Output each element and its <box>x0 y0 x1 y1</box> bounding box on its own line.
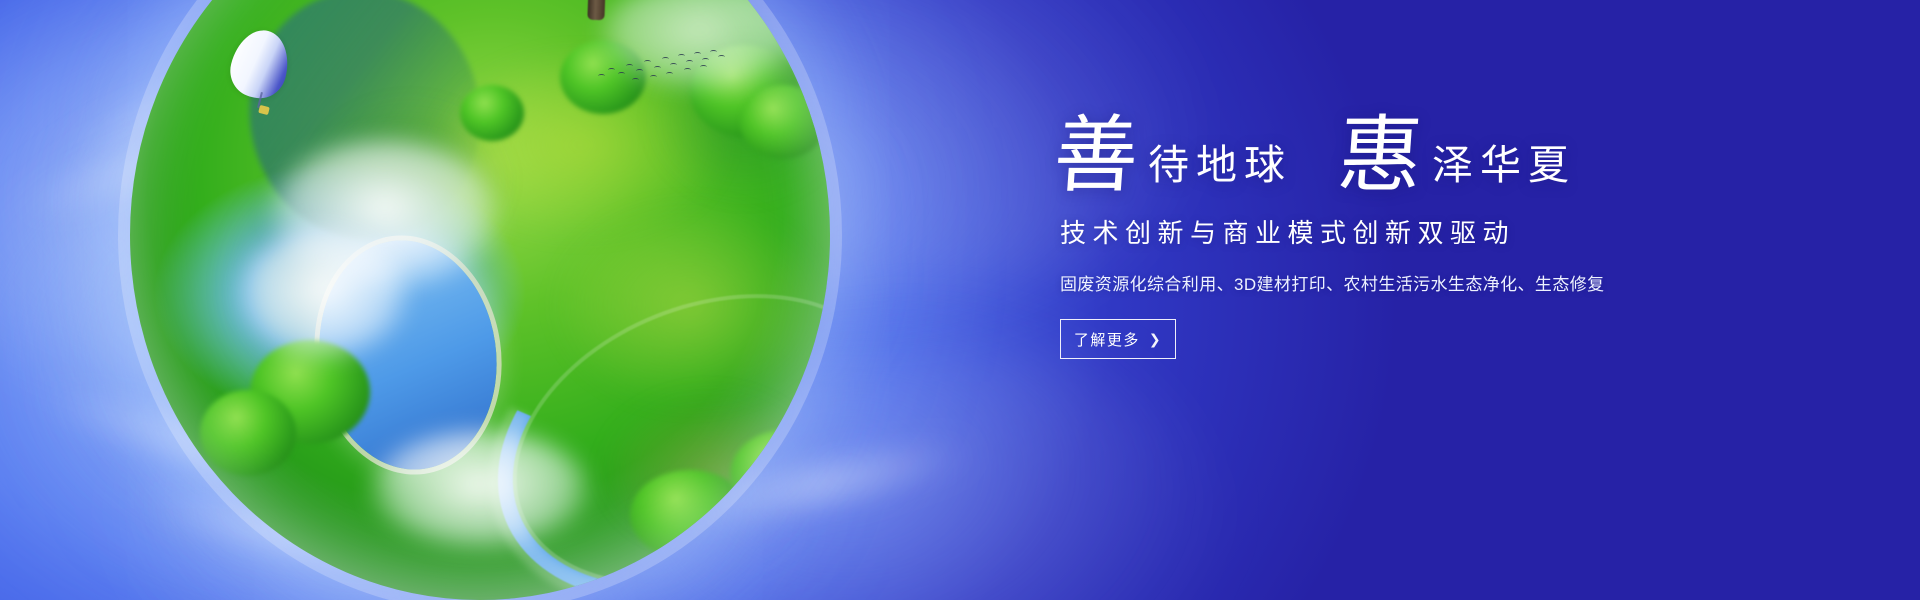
bird-icon <box>702 58 709 62</box>
hero-text-block: 善 待地球 惠 泽华夏 技术创新与商业模式创新双驱动 固废资源化综合利用、3D建… <box>1060 118 1740 359</box>
bird-icon <box>608 68 615 72</box>
hero-banner: 善 待地球 惠 泽华夏 技术创新与商业模式创新双驱动 固废资源化综合利用、3D建… <box>0 0 1920 600</box>
bird-icon <box>632 78 639 82</box>
bird-icon <box>670 63 677 67</box>
bird-icon <box>694 52 701 56</box>
hero-description: 固废资源化综合利用、3D建材打印、农村生活污水生态净化、生态修复 <box>1060 270 1740 295</box>
learn-more-label: 了解更多 <box>1074 329 1140 350</box>
bird-icon <box>686 60 693 64</box>
bird-icon <box>662 57 669 61</box>
headline-char-2: 惠 <box>1335 118 1428 195</box>
bird-icon <box>710 50 717 54</box>
bird-icon <box>700 65 707 69</box>
chevron-right-icon: ❯ <box>1149 332 1162 346</box>
bird-icon <box>644 60 651 64</box>
learn-more-button[interactable]: 了解更多 ❯ <box>1060 319 1176 359</box>
bird-icon <box>636 69 643 73</box>
headline-rest-1: 待地球 <box>1142 145 1292 195</box>
headline-rest-2: 泽华夏 <box>1426 145 1576 195</box>
headline-char-1: 善 <box>1051 118 1144 195</box>
bird-icon <box>618 72 625 76</box>
bird-icon <box>684 68 691 72</box>
bird-icon <box>666 72 673 76</box>
bird-flock-icon <box>596 48 726 90</box>
hot-air-balloon-icon <box>232 30 288 122</box>
page-title: 善 待地球 惠 泽华夏 <box>1054 118 1740 195</box>
bird-icon <box>598 74 605 78</box>
hero-subtitle: 技术创新与商业模式创新双驱动 <box>1060 213 1740 250</box>
bird-icon <box>718 55 725 59</box>
bird-icon <box>650 75 657 79</box>
bird-icon <box>654 66 661 70</box>
bird-icon <box>678 54 685 58</box>
bird-icon <box>626 64 633 68</box>
